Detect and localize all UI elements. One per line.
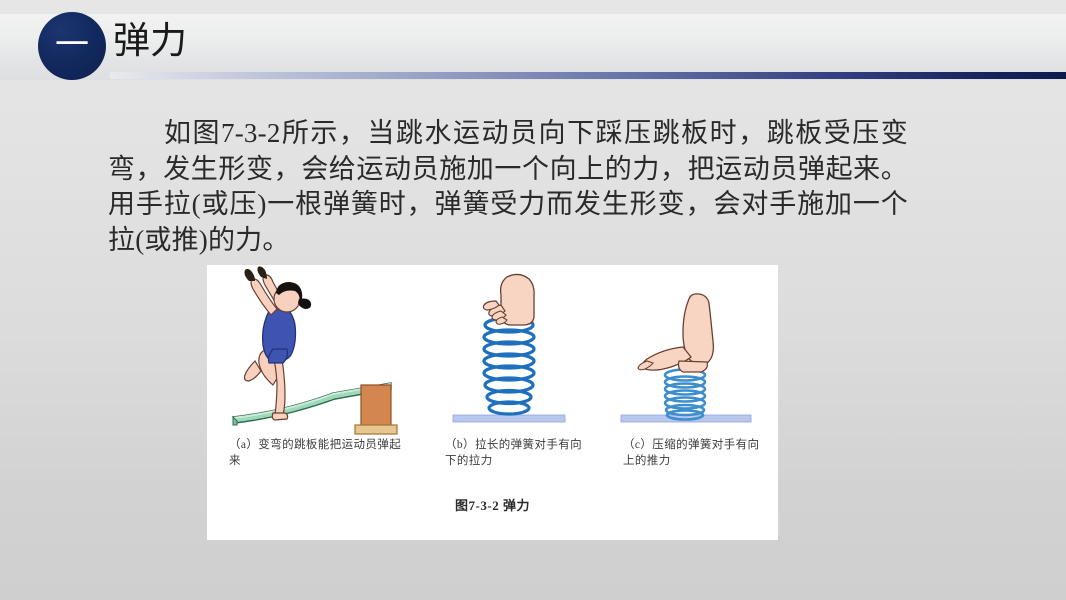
section-number-badge: 一 [38, 12, 106, 80]
slide-header: 一 弹力 [0, 0, 1066, 92]
figure-container: （a）变弯的跳板能把运动员弹起来 [207, 265, 778, 540]
figure-panel-c-caption: （c）压缩的弹簧对手有向上的推力 [623, 437, 763, 469]
hand-pressing-compressed-spring-illustration [617, 265, 757, 435]
figure-panel-b-caption: （b）拉长的弹簧对手有向下的拉力 [445, 437, 585, 469]
hand-pulling-stretched-spring-illustration [439, 265, 579, 435]
diver-on-springboard-illustration [215, 265, 415, 435]
figure-panel-b: （b）拉长的弹簧对手有向下的拉力 [439, 265, 579, 493]
slide-canvas: 一 弹力 如图7-3-2所示，当跳水运动员向下踩压跳板时，跳板受压变弯，发生形变… [0, 0, 1066, 600]
section-number-label: 一 [55, 29, 89, 63]
figure-panel-a-caption: （a）变弯的跳板能把运动员弹起来 [229, 437, 404, 469]
figure-title: 图7-3-2 弹力 [207, 497, 778, 515]
figure-panel-a: （a）变弯的跳板能把运动员弹起来 [215, 265, 415, 493]
header-divider-rule [110, 72, 1066, 79]
figure-panels-row: （a）变弯的跳板能把运动员弹起来 [207, 265, 778, 493]
figure-panel-c: （c）压缩的弹簧对手有向上的推力 [617, 265, 757, 493]
body-paragraph: 如图7-3-2所示，当跳水运动员向下踩压跳板时，跳板受压变弯，发生形变，会给运动… [108, 116, 908, 258]
page-title: 弹力 [113, 18, 187, 66]
